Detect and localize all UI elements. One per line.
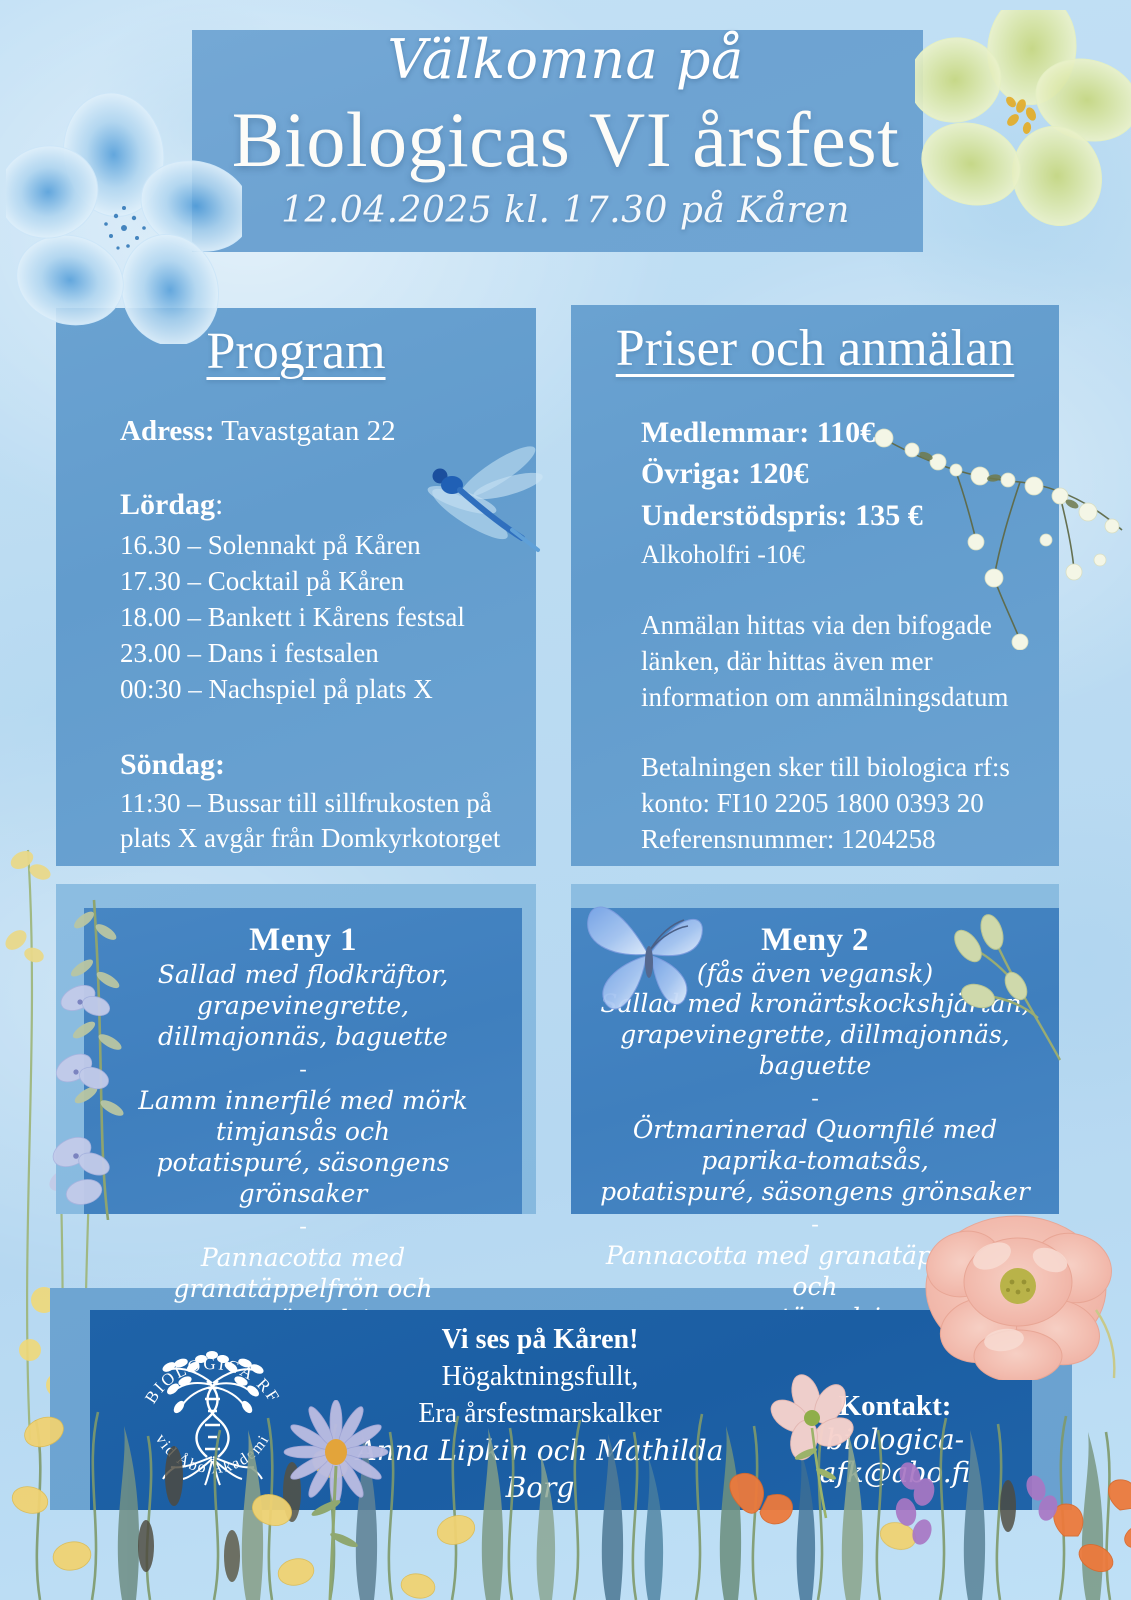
footer-message: Vi ses på Kåren! Högaktningsfullt, Era å… bbox=[330, 1322, 750, 1507]
welcome-text: Välkomna på bbox=[0, 28, 1131, 91]
price-alcohol-free: Alkoholfri -10€ bbox=[641, 538, 1033, 572]
price-others: Övriga: 120€ bbox=[641, 453, 1033, 494]
sunday-line-1: 11:30 – Bussar till sillfrukosten på bbox=[82, 786, 510, 822]
list-item: 00:30 – Nachspiel på plats X bbox=[120, 672, 510, 708]
program-heading: Program bbox=[56, 322, 536, 381]
registration-paragraph: Anmälan hittas via den bifogade länken, … bbox=[597, 608, 1033, 716]
list-item: 23.00 – Dans i festsalen bbox=[120, 636, 510, 672]
event-datetime: 12.04.2025 kl. 17.30 på Kåren bbox=[0, 190, 1131, 231]
menu1-separator-2: - bbox=[84, 1209, 522, 1242]
contact-block: Kontakt: biologica-afk@abo.fi bbox=[770, 1390, 1020, 1489]
payment-paragraph: Betalningen sker till biologica rf:s kon… bbox=[597, 750, 1033, 858]
biologica-tree-dna-logo-icon: BIOLOGICA RF vid Åbo Akademi bbox=[125, 1325, 300, 1500]
prices-heading: Priser och anmälan bbox=[571, 319, 1059, 378]
payment-line-1: Betalningen sker till biologica rf:s bbox=[641, 750, 1033, 786]
menu2-title: Meny 2 bbox=[571, 922, 1059, 959]
menu1-dessert-line-1: Pannacotta med granatäppelfrön och bbox=[84, 1242, 522, 1304]
price-support: Understödspris: 135 € bbox=[641, 495, 1033, 536]
registration-line-3: information om anmälningsdatum bbox=[641, 680, 1033, 716]
biologica-logo: BIOLOGICA RF vid Åbo Akademi bbox=[125, 1325, 300, 1500]
saturday-schedule-list: 16.30 – Solennakt på Kåren 17.30 – Cockt… bbox=[82, 528, 510, 708]
contact-label: Kontakt: bbox=[770, 1390, 1020, 1423]
menu2-main-line-1: Örtmarinerad Quornfilé med paprika-tomat… bbox=[571, 1114, 1059, 1176]
menu1-main-line-2: potatispuré, säsongens grönsaker bbox=[84, 1147, 522, 1209]
footer-line-4: Anna Lipkin och Mathilda Borg bbox=[330, 1433, 750, 1507]
menu1-starter-line-1: Sallad med flodkräftor, grapevinegrette, bbox=[84, 959, 522, 1021]
menu2-starter-line-1: Sallad med kronärtskockshjärtan, bbox=[571, 988, 1059, 1019]
page-title: Biologicas VI årsfest bbox=[0, 95, 1131, 185]
prices-panel: Priser och anmälan Medlemmar: 110€ Övrig… bbox=[571, 305, 1059, 866]
registration-line-1: Anmälan hittas via den bifogade bbox=[641, 608, 1033, 644]
contact-email[interactable]: biologica-afk@abo.fi bbox=[770, 1423, 1020, 1489]
payment-line-3: Referensnummer: 1204258 bbox=[641, 822, 1033, 858]
registration-line-2: länken, där hittas även mer bbox=[641, 644, 1033, 680]
menu1-main-line-1: Lamm innerfilé med mörk timjansås och bbox=[84, 1085, 522, 1147]
address-label: Adress: bbox=[120, 415, 215, 447]
price-list: Medlemmar: 110€ Övriga: 120€ Understödsp… bbox=[597, 412, 1033, 572]
address-line: Adress: Tavastgatan 22 bbox=[82, 415, 510, 448]
price-members: Medlemmar: 110€ bbox=[641, 412, 1033, 453]
program-panel: Program Adress: Tavastgatan 22 Lördag: 1… bbox=[56, 308, 536, 866]
saturday-label: Lördag: bbox=[82, 488, 510, 522]
menu1-panel: Meny 1 Sallad med flodkräftor, grapevine… bbox=[84, 908, 522, 1214]
address-value: Tavastgatan 22 bbox=[221, 415, 395, 447]
list-item: 16.30 – Solennakt på Kåren bbox=[120, 528, 510, 564]
menu1-title: Meny 1 bbox=[84, 922, 522, 959]
saturday-colon: : bbox=[215, 488, 223, 521]
payment-line-2: konto: FI10 2205 1800 0393 20 bbox=[641, 786, 1033, 822]
sunday-line-2: plats X avgår från Domkyrkotorget bbox=[82, 821, 510, 857]
sunday-label: Söndag: bbox=[82, 748, 510, 782]
menu2-dessert-line-1: Pannacotta med granatäppelfrön och bbox=[571, 1240, 1059, 1302]
menu2-separator-1: - bbox=[571, 1081, 1059, 1114]
menu1-starter-line-2: dillmajonnäs, baguette bbox=[84, 1021, 522, 1052]
menu2-separator-2: - bbox=[571, 1207, 1059, 1240]
list-item: 17.30 – Cocktail på Kåren bbox=[120, 564, 510, 600]
menu2-starter-line-2: grapevinegrette, dillmajonnäs, baguette bbox=[571, 1019, 1059, 1081]
footer-line-2: Högaktningsfullt, bbox=[330, 1359, 750, 1396]
menu2-main-line-2: potatispuré, säsongens grönsaker bbox=[571, 1176, 1059, 1207]
menu2-subtitle: (fås även vegansk) bbox=[571, 959, 1059, 988]
menu1-separator-1: - bbox=[84, 1052, 522, 1085]
list-item: 18.00 – Bankett i Kårens festsal bbox=[120, 600, 510, 636]
footer-line-3: Era årsfestmarskalker bbox=[330, 1396, 750, 1433]
poster-root: Välkomna på Biologicas VI årsfest 12.04.… bbox=[0, 0, 1131, 1600]
menu2-panel: Meny 2 (fås även vegansk) Sallad med kro… bbox=[571, 908, 1059, 1214]
footer-line-1: Vi ses på Kåren! bbox=[330, 1322, 750, 1359]
saturday-label-text: Lördag bbox=[120, 488, 215, 521]
